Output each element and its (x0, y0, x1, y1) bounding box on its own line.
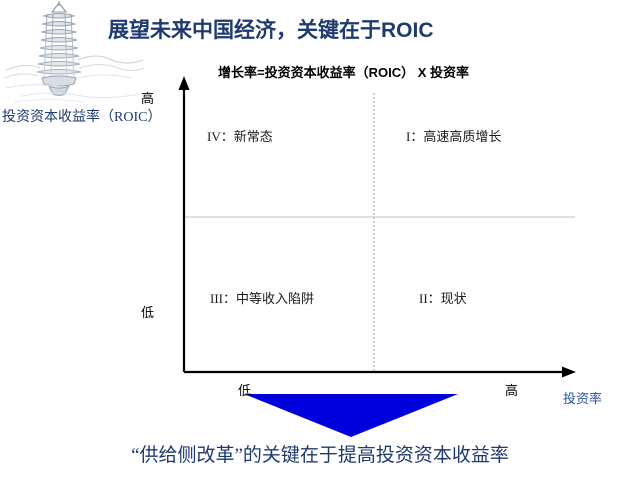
quadrant-label-i: I：高速高质增长 (406, 126, 501, 145)
x-axis-tick-low: 低 (238, 380, 251, 399)
y-axis-arrowhead (179, 76, 190, 90)
y-axis-tick-high: 高 (141, 88, 154, 107)
x-axis-title: 投资率 (563, 388, 602, 407)
y-axis-title: 投资资本收益率（ROIC） (2, 106, 161, 126)
x-axis-tick-high: 高 (505, 380, 518, 399)
quadrant-label-iii: III：中等收入陷阱 (210, 288, 314, 307)
quadrant-chart (0, 0, 640, 487)
quadrant-label-iv: IV：新常态 (207, 126, 273, 145)
emphasis-down-arrow (244, 394, 458, 437)
slide-caption: “供给侧改革”的关键在于提高投资资本收益率 (0, 440, 640, 467)
x-axis-arrowhead (562, 367, 576, 378)
slide-canvas: 展望未来中国经济，关键在于ROIC 增长率=投资资本收益率（ROIC） X 投资… (0, 0, 640, 487)
quadrant-label-ii: II：现状 (419, 288, 467, 307)
y-axis-tick-low: 低 (141, 302, 154, 321)
